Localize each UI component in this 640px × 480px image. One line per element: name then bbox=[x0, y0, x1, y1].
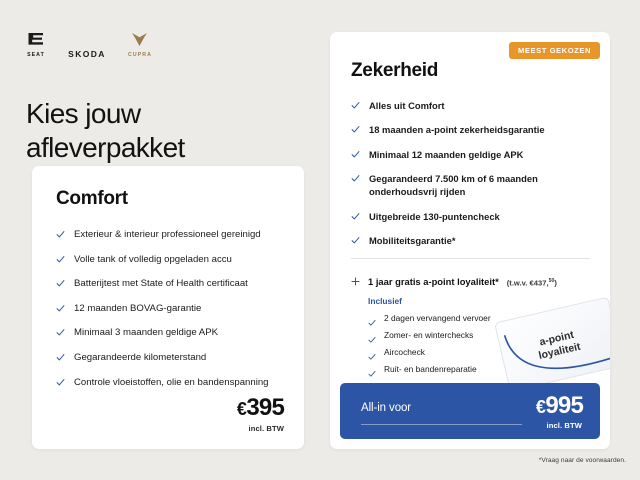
feature-label: Controle vloeistoffen, olie en bandenspa… bbox=[74, 376, 269, 390]
check-icon bbox=[351, 101, 360, 110]
feature-label: Uitgebreide 130-puntencheck bbox=[369, 210, 500, 223]
seat-wordmark: SEAT bbox=[27, 53, 45, 58]
zekerheid-price-note: incl. BTW bbox=[547, 421, 583, 430]
check-icon bbox=[56, 304, 65, 313]
check-icon bbox=[351, 125, 360, 134]
check-icon bbox=[56, 328, 65, 337]
loyalty-title: 1 jaar gratis a-point loyaliteit* bbox=[368, 276, 499, 287]
cupra-logo-icon bbox=[131, 32, 148, 51]
list-item: Minimaal 12 maanden geldige APK bbox=[351, 148, 594, 161]
inclusief-list: 2 dagen vervangend vervoer Zomer- en win… bbox=[368, 313, 594, 375]
feature-label: 12 maanden BOVAG-garantie bbox=[74, 302, 201, 316]
brand-logo-bar: SEAT SKODA CUPRA bbox=[26, 30, 152, 58]
check-icon bbox=[368, 331, 376, 339]
list-item: Mobiliteitsgarantie* bbox=[351, 234, 594, 247]
zekerheid-feature-list: Alles uit Comfort 18 maanden a-point zek… bbox=[351, 99, 594, 247]
feature-label: Volle tank of volledig opgeladen accu bbox=[74, 253, 232, 267]
list-item: Volle tank of volledig opgeladen accu bbox=[56, 253, 286, 267]
inclusief-label-item: Ruit- en bandenreparatie bbox=[384, 364, 477, 375]
allin-underline bbox=[361, 424, 522, 425]
list-item: Aircocheck bbox=[368, 347, 594, 358]
check-icon bbox=[56, 279, 65, 288]
loyalty-value: (t.w.v. €437,50) bbox=[507, 278, 557, 288]
list-item: 18 maanden a-point zekerheidsgarantie bbox=[351, 123, 594, 136]
comfort-price: €395 bbox=[237, 396, 284, 420]
left-column: SEAT SKODA CUPRA Kies jouw afleverpakket bbox=[0, 0, 320, 480]
comfort-price-block: €395 incl. BTW bbox=[237, 396, 284, 433]
cupra-wordmark: CUPRA bbox=[128, 53, 152, 58]
inclusief-label: Inclusief bbox=[368, 296, 594, 306]
inclusief-block: Inclusief 2 dagen vervangend vervoer Zom… bbox=[368, 296, 594, 375]
list-item: Batterijtest met State of Health certifi… bbox=[56, 277, 286, 291]
list-item: Gegarandeerd 7.500 km of 6 maanden onder… bbox=[351, 172, 594, 199]
loyalty-value-prefix: (t.w.v. € bbox=[507, 278, 534, 287]
list-item: Ruit- en bandenreparatie bbox=[368, 364, 594, 375]
inclusief-label-item: Aircocheck bbox=[384, 347, 425, 358]
list-item: 2 dagen vervangend vervoer bbox=[368, 313, 594, 324]
check-icon bbox=[351, 236, 360, 245]
brand-cupra: CUPRA bbox=[128, 32, 152, 58]
check-icon bbox=[56, 230, 65, 239]
currency-symbol: € bbox=[536, 397, 546, 417]
loyalty-headline-row: 1 jaar gratis a-point loyaliteit* (t.w.v… bbox=[351, 272, 594, 287]
price-amount: 995 bbox=[545, 392, 583, 419]
comfort-price-note: incl. BTW bbox=[237, 424, 284, 433]
check-icon bbox=[56, 378, 65, 387]
list-item: Exterieur & interieur professioneel gere… bbox=[56, 228, 286, 242]
feature-label: Alles uit Comfort bbox=[369, 99, 445, 112]
list-item: 12 maanden BOVAG-garantie bbox=[56, 302, 286, 316]
package-card-zekerheid[interactable]: MEEST GEKOZEN Zekerheid Alles uit Comfor… bbox=[330, 32, 610, 449]
check-icon bbox=[56, 255, 65, 264]
list-item: Minimaal 3 maanden geldige APK bbox=[56, 326, 286, 340]
page-title: Kies jouw afleverpakket bbox=[26, 97, 296, 165]
check-icon bbox=[351, 212, 360, 221]
zekerheid-price: €995 bbox=[536, 394, 583, 418]
list-item: Alles uit Comfort bbox=[351, 99, 594, 112]
feature-label: Minimaal 3 maanden geldige APK bbox=[74, 326, 218, 340]
comfort-title: Comfort bbox=[56, 188, 304, 210]
currency-symbol: € bbox=[237, 399, 247, 419]
skoda-wordmark: SKODA bbox=[68, 50, 106, 59]
check-icon bbox=[368, 314, 376, 322]
delivery-package-page: SEAT SKODA CUPRA Kies jouw afleverpakket bbox=[0, 0, 640, 480]
loyalty-value-amount: 437, bbox=[534, 278, 549, 287]
list-item: Controle vloeistoffen, olie en bandenspa… bbox=[56, 376, 286, 390]
comfort-feature-list: Exterieur & interieur professioneel gere… bbox=[56, 228, 286, 389]
feature-label: Minimaal 12 maanden geldige APK bbox=[369, 148, 523, 161]
check-icon bbox=[368, 365, 376, 373]
feature-label: Batterijtest met State of Health certifi… bbox=[74, 277, 248, 291]
brand-seat: SEAT bbox=[26, 32, 46, 58]
brand-skoda: SKODA bbox=[68, 44, 106, 59]
check-icon bbox=[351, 150, 360, 159]
check-icon bbox=[56, 353, 65, 362]
feature-label: 18 maanden a-point zekerheidsgarantie bbox=[369, 123, 545, 136]
check-icon bbox=[351, 174, 360, 183]
plus-icon bbox=[351, 273, 360, 282]
zekerheid-title: Zekerheid bbox=[351, 60, 610, 82]
feature-label: Gegarandeerd 7.500 km of 6 maanden onder… bbox=[369, 172, 594, 199]
feature-label: Gegarandeerde kilometerstand bbox=[74, 351, 206, 365]
allin-label: All-in voor bbox=[361, 402, 411, 414]
price-amount: 395 bbox=[246, 394, 284, 421]
allin-price-bar: All-in voor €995 incl. BTW bbox=[340, 383, 600, 439]
package-card-comfort[interactable]: Comfort Exterieur & interieur profession… bbox=[32, 166, 304, 449]
loyalty-value-suffix: ) bbox=[554, 278, 557, 287]
feature-label: Mobiliteitsgarantie* bbox=[369, 234, 455, 247]
inclusief-label-item: 2 dagen vervangend vervoer bbox=[384, 313, 491, 324]
feature-label: Exterieur & interieur professioneel gere… bbox=[74, 228, 261, 242]
list-item: Uitgebreide 130-puntencheck bbox=[351, 210, 594, 223]
status-badge: MEEST GEKOZEN bbox=[509, 42, 600, 59]
list-item: Gegarandeerde kilometerstand bbox=[56, 351, 286, 365]
section-divider bbox=[351, 258, 590, 259]
seat-logo-icon bbox=[26, 32, 46, 51]
check-icon bbox=[368, 348, 376, 356]
footnote: *Vraag naar de voorwaarden. bbox=[539, 457, 626, 464]
list-item: Zomer- en winterchecks bbox=[368, 330, 594, 341]
inclusief-label-item: Zomer- en winterchecks bbox=[384, 330, 473, 341]
